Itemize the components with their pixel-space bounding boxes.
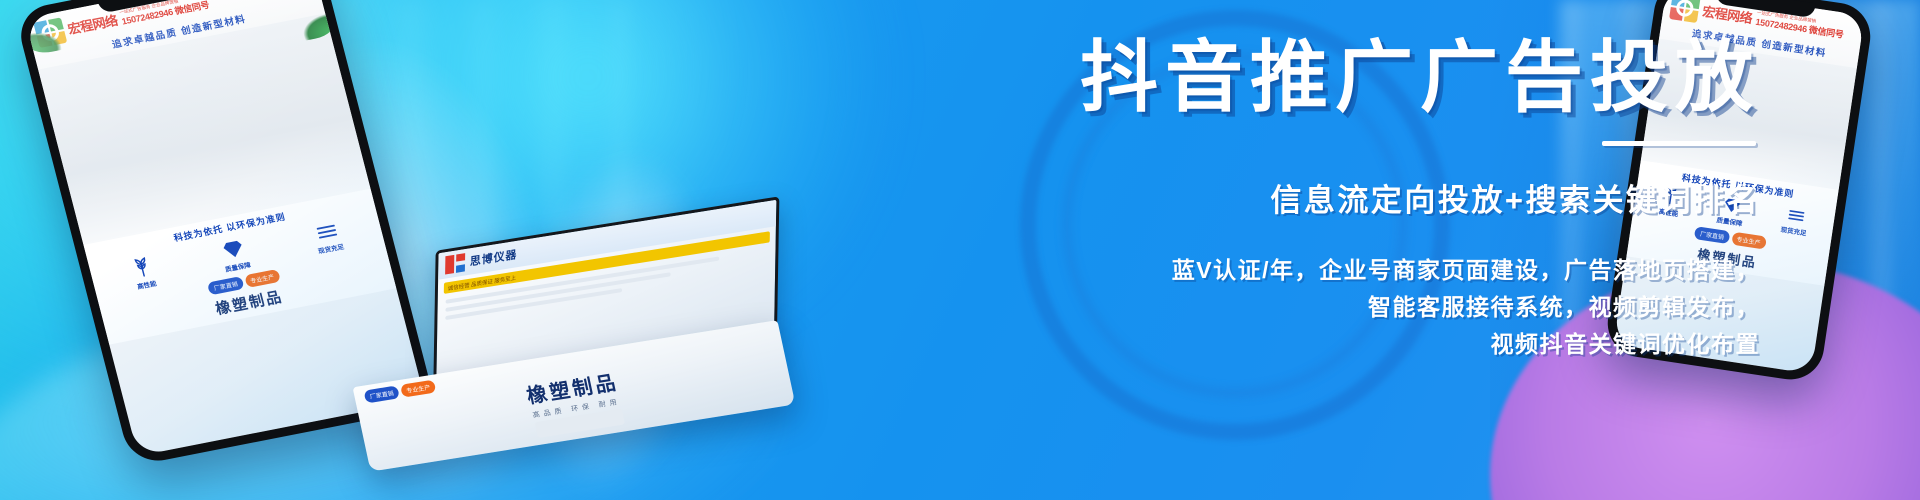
body-line: 蓝V认证/年，企业号商家页面建设，广告落地页搭建， xyxy=(940,252,1760,289)
feature-label: 现货充足 xyxy=(317,241,345,256)
page-title: 抖音推广广告投放 xyxy=(940,36,1760,119)
feature-item: 高性能 xyxy=(129,254,159,291)
body-text-block: 蓝V认证/年，企业号商家页面建设，广告落地页搭建， 智能客服接待系统，视频剪辑发… xyxy=(940,252,1760,364)
page-subtitle: 信息流定向投放+搜索关键词排名 xyxy=(940,175,1760,220)
feature-label: 高性能 xyxy=(136,277,158,290)
laptop-brand: 思博仪器 xyxy=(470,246,518,270)
feature-label: 现货充足 xyxy=(1780,224,1807,238)
pill-badge: 厂家直销 xyxy=(207,276,244,295)
feature-item: 现货充足 xyxy=(311,217,345,255)
waves-icon xyxy=(313,218,340,244)
company-logo-icon xyxy=(445,253,465,274)
feature-item: 现货充足 xyxy=(1780,204,1810,238)
headline-block: 抖音推广广告投放 信息流定向投放+搜索关键词排名 蓝V认证/年，企业号商家页面建… xyxy=(940,36,1760,363)
feature-item: 质量保障 xyxy=(218,236,252,274)
title-underline-rule xyxy=(1602,141,1756,146)
pill-badge: 专业生产 xyxy=(244,269,281,288)
feature-label: 质量保障 xyxy=(224,259,252,274)
promo-banner: 宏程网络 一站式广告服务 企业品牌营销 15072482946 微信同号 追求卓… xyxy=(0,0,1920,500)
diamond-icon xyxy=(220,236,247,262)
body-line: 视频抖音关键词优化布置 xyxy=(940,326,1760,363)
plant-icon xyxy=(129,254,156,280)
site-brand: 宏程网络 xyxy=(66,13,118,35)
body-line: 智能客服接待系统，视频剪辑发布， xyxy=(940,289,1760,326)
company-logo-icon xyxy=(1669,0,1701,23)
waves-icon xyxy=(1786,205,1806,225)
